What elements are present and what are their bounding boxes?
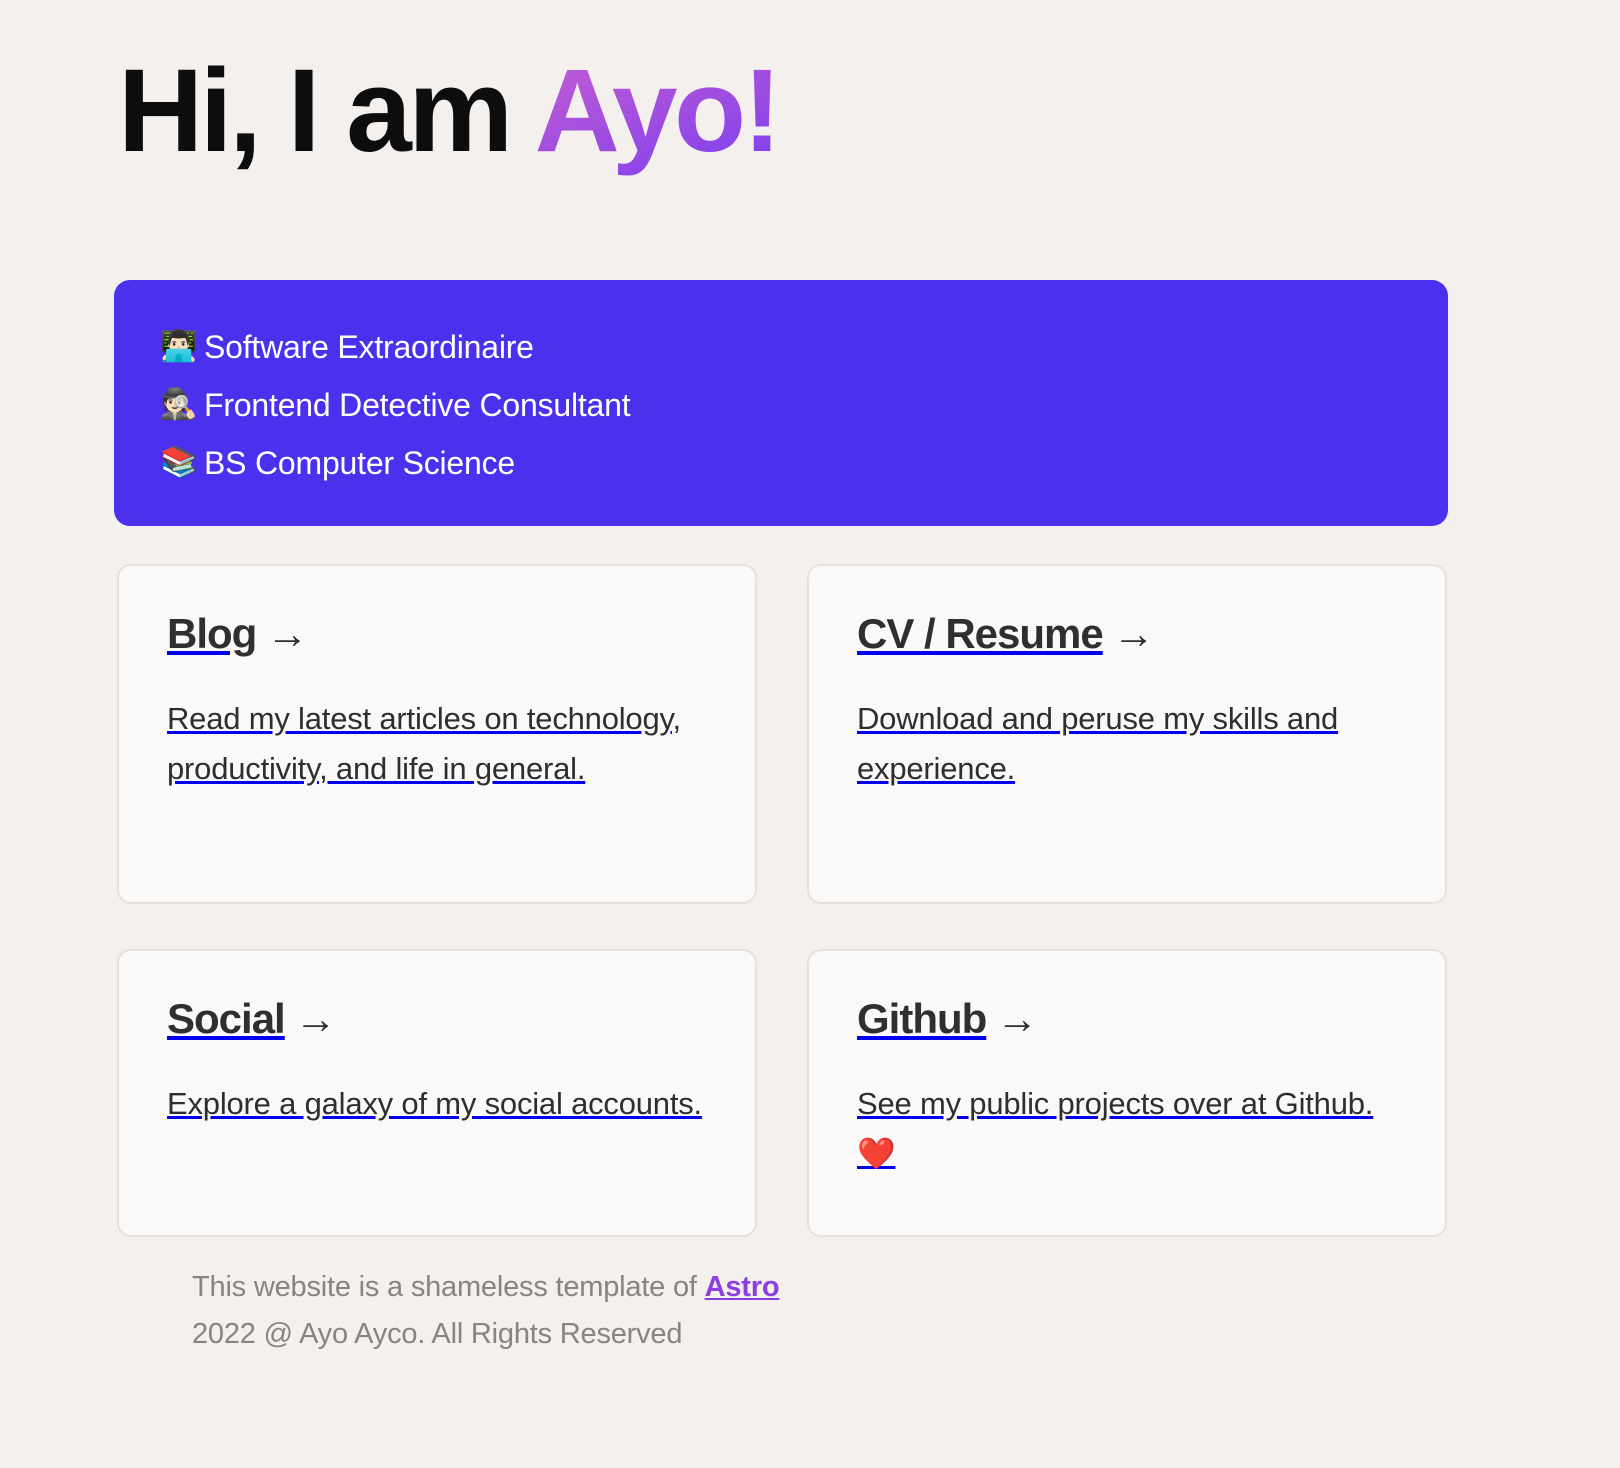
arrow-right-icon: → [996, 995, 1037, 1043]
arrow-right-icon: → [1113, 610, 1154, 658]
fact-item-software: 👨🏻‍💻 Software Extraordinaire [160, 318, 1448, 376]
footer-copyright: 2022 @ Ayo Ayco. All Rights Reserved [192, 1311, 779, 1358]
card-blog[interactable]: Blog→ Read my latest articles on technol… [117, 564, 757, 904]
arrow-right-icon: → [266, 610, 307, 658]
card-title: CV / Resume→ [857, 610, 1403, 658]
card-description: Read my latest articles on technology, p… [167, 694, 713, 794]
about-facts-panel: 👨🏻‍💻 Software Extraordinaire 🕵🏻 Frontend… [114, 280, 1448, 526]
site-footer: This website is a shameless template of … [192, 1264, 779, 1358]
card-title-text: Social [167, 995, 285, 1042]
card-title-text: CV / Resume [857, 610, 1103, 657]
detective-icon: 🕵🏻 [160, 390, 204, 420]
page-title-greeting: Hi, I am [118, 45, 535, 177]
man-technologist-icon: 👨🏻‍💻 [160, 332, 204, 362]
card-cv-resume[interactable]: CV / Resume→ Download and peruse my skil… [807, 564, 1447, 904]
fact-item-label: Software Extraordinaire [204, 329, 534, 366]
fact-item-label: Frontend Detective Consultant [204, 387, 630, 424]
card-title-text: Blog [167, 610, 256, 657]
card-description: See my public projects over at Github. ❤… [857, 1079, 1403, 1179]
card-github[interactable]: Github→ See my public projects over at G… [807, 949, 1447, 1237]
card-title: Social→ [167, 995, 713, 1043]
books-icon: 📚 [160, 448, 204, 478]
arrow-right-icon: → [295, 995, 336, 1043]
card-title: Blog→ [167, 610, 713, 658]
fact-item-education: 📚 BS Computer Science [160, 434, 1448, 492]
card-title-text: Github [857, 995, 986, 1042]
homepage-root: Hi, I am Ayo! 👨🏻‍💻 Software Extraordinai… [0, 0, 1620, 1468]
fact-item-label: BS Computer Science [204, 445, 515, 482]
card-description: Explore a galaxy of my social accounts. [167, 1079, 713, 1129]
page-title-name: Ayo! [535, 45, 779, 177]
card-description: Download and peruse my skills and experi… [857, 694, 1403, 794]
card-title: Github→ [857, 995, 1403, 1043]
footer-template-text: This website is a shameless template of [192, 1271, 705, 1303]
page-title: Hi, I am Ayo! [118, 52, 778, 170]
card-social[interactable]: Social→ Explore a galaxy of my social ac… [117, 949, 757, 1237]
link-card-grid: Blog→ Read my latest articles on technol… [117, 564, 1447, 1237]
astro-link[interactable]: Astro [705, 1271, 780, 1303]
footer-template-credit: This website is a shameless template of … [192, 1264, 779, 1311]
fact-item-frontend: 🕵🏻 Frontend Detective Consultant [160, 376, 1448, 434]
